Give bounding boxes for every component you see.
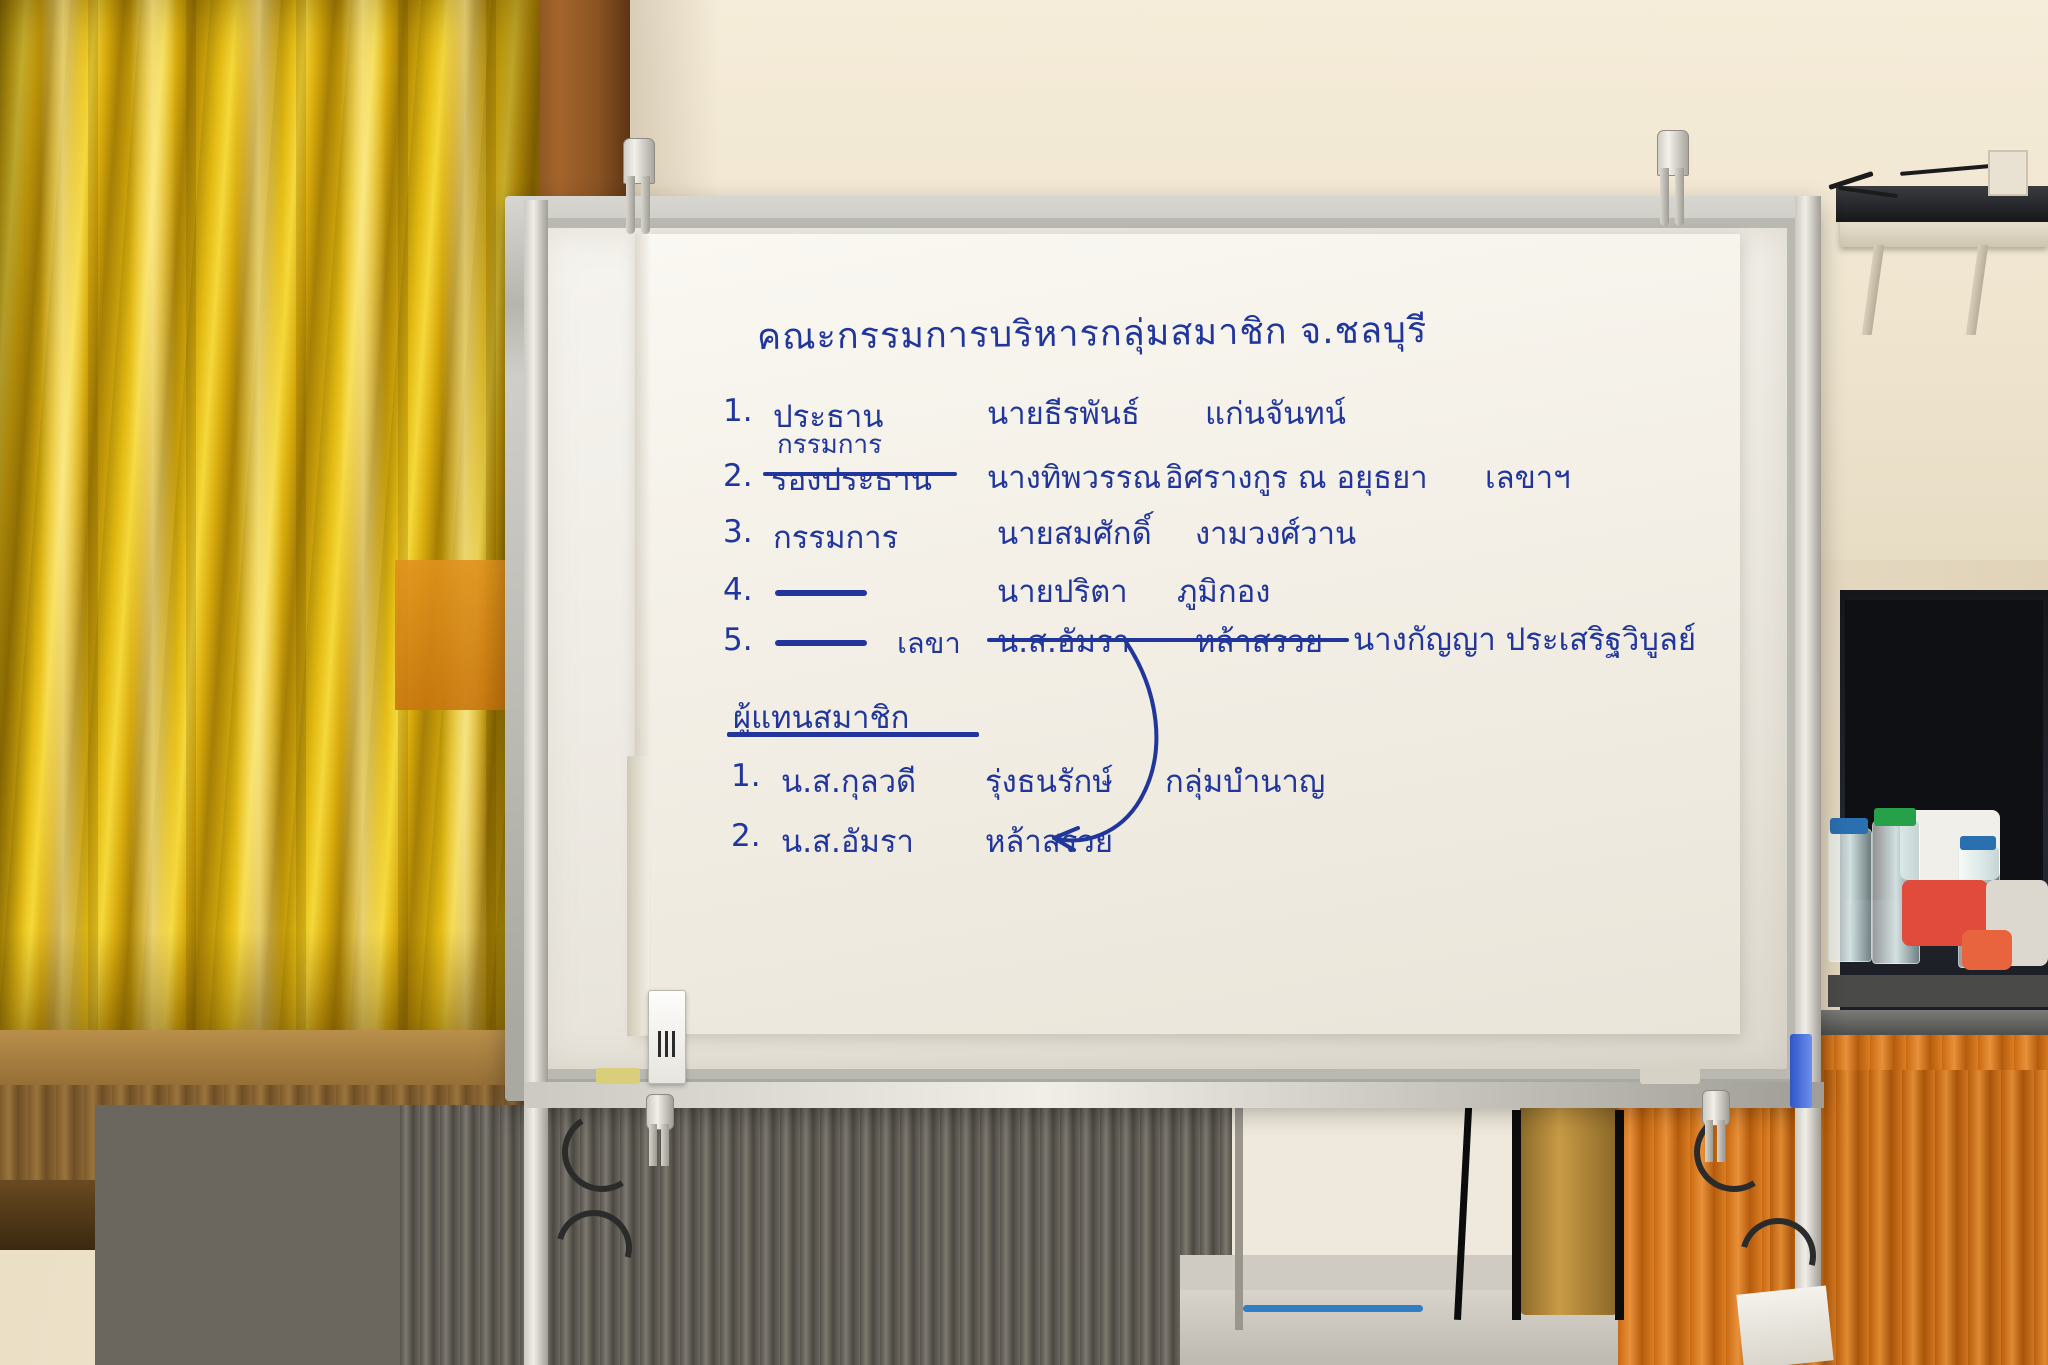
photo-scene: คณะกรรมการบริหารกลุ่มสมาชิก จ.ชลบุรี 1. … bbox=[0, 0, 2048, 1365]
row-2-surname: อิศรางกูร ณ อยุธยา bbox=[1165, 452, 1428, 502]
easel-leg-right bbox=[1795, 196, 1821, 1361]
blue-cable bbox=[1243, 1305, 1423, 1312]
row-3-surname: งามวงศ์วาน bbox=[1195, 508, 1356, 558]
easel-leg-left bbox=[524, 200, 548, 1365]
hanging-tag[interactable] bbox=[648, 990, 686, 1084]
row-5-role-suffix: เลขา bbox=[897, 620, 961, 666]
row-5-replacement: นางกัญญา ประเสริฐวิบูลย์ bbox=[1353, 614, 1696, 664]
row-1-name: นายธีรพันธ์ bbox=[987, 388, 1140, 438]
row-1-number: 1. bbox=[723, 393, 753, 429]
board-clamp-right[interactable] bbox=[1657, 130, 1687, 225]
board-clamp-left[interactable] bbox=[623, 138, 653, 233]
row-4-surname: ภูมิกอง bbox=[1177, 566, 1270, 616]
bottle-cap bbox=[1830, 818, 1868, 834]
bottle-cap bbox=[1960, 836, 1996, 850]
waste-bin bbox=[1520, 1085, 1618, 1315]
row-2-role-struck: รองประธาน bbox=[771, 454, 932, 504]
row-2-strikethrough bbox=[763, 472, 957, 476]
row-2-name: นางทิพวรรณ bbox=[987, 452, 1161, 502]
stand-leg bbox=[1615, 1110, 1624, 1320]
row-3-number: 3. bbox=[723, 514, 753, 550]
gold-curtain bbox=[0, 0, 540, 1060]
table-edge bbox=[1828, 975, 2048, 1007]
marker-blue[interactable] bbox=[1790, 1034, 1812, 1108]
rep-2-number: 2. bbox=[731, 818, 761, 854]
crossbar-hook-right[interactable] bbox=[1702, 1090, 1728, 1160]
row-5-number: 5. bbox=[723, 622, 753, 658]
row-4-dash bbox=[775, 590, 867, 596]
easel-crossbar bbox=[524, 1082, 1824, 1108]
row-3-role: กรรมการ bbox=[773, 512, 898, 562]
pole bbox=[1235, 1090, 1243, 1330]
crossbar-hook-left[interactable] bbox=[646, 1094, 672, 1164]
marker-on-tray[interactable] bbox=[1640, 1068, 1700, 1084]
row-5-dash bbox=[775, 640, 867, 646]
stand-leg bbox=[1512, 1110, 1521, 1320]
row-4-name: นายปริตา bbox=[997, 566, 1128, 616]
rep-1-number: 1. bbox=[731, 758, 761, 794]
curtain-orange-patch bbox=[395, 560, 505, 710]
whiteboard[interactable]: คณะกรรมการบริหารกลุ่มสมาชิก จ.ชลบุรี 1. … bbox=[505, 196, 1820, 1101]
board-heading: คณะกรรมการบริหารกลุ่มสมาชิก จ.ชลบุรี bbox=[757, 301, 1428, 365]
rep-1-name: น.ส.กุลวดี bbox=[781, 756, 916, 806]
wall-socket bbox=[1988, 150, 2028, 196]
water-bottle bbox=[1828, 828, 1872, 962]
marker-yellow[interactable] bbox=[596, 1068, 640, 1084]
section-heading-underline bbox=[727, 732, 979, 737]
plastic-bag bbox=[1736, 1286, 1833, 1365]
annotation-arrow-icon bbox=[1040, 628, 1270, 878]
rep-2-name: น.ส.อัมรา bbox=[781, 816, 914, 866]
row-1-surname: แก่นจันทน์ bbox=[1205, 388, 1346, 438]
row-2-extra: เลขาฯ bbox=[1485, 452, 1571, 502]
row-4-number: 4. bbox=[723, 572, 753, 608]
row-2-number: 2. bbox=[723, 458, 753, 494]
misc-item bbox=[1962, 930, 2012, 970]
bottle-cap bbox=[1874, 808, 1916, 826]
row-3-name: นายสมศักดิ์ bbox=[997, 508, 1152, 558]
